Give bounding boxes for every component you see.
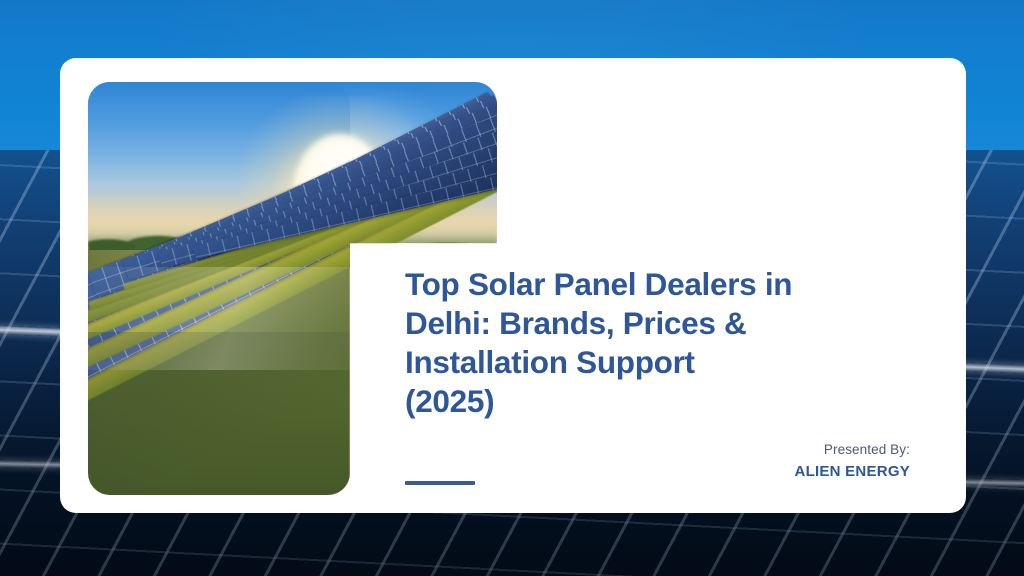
page-title-line: Top Solar Panel Dealers in	[405, 265, 925, 304]
hero-image-render	[88, 82, 350, 495]
presenter-block: Presented By: ALIEN ENERGY	[794, 440, 910, 482]
hero-image-bottom-section	[88, 82, 350, 495]
page-title-line: (2025)	[405, 382, 925, 421]
presented-by-label: Presented By:	[794, 440, 910, 459]
page-title-line: Delhi: Brands, Prices &	[405, 304, 925, 343]
title-divider	[405, 481, 475, 485]
page-title: Top Solar Panel Dealers inDelhi: Brands,…	[405, 265, 925, 421]
slide-card: Top Solar Panel Dealers inDelhi: Brands,…	[60, 58, 966, 513]
page-title-line: Installation Support	[405, 343, 925, 382]
presenter-name: ALIEN ENERGY	[794, 461, 910, 482]
